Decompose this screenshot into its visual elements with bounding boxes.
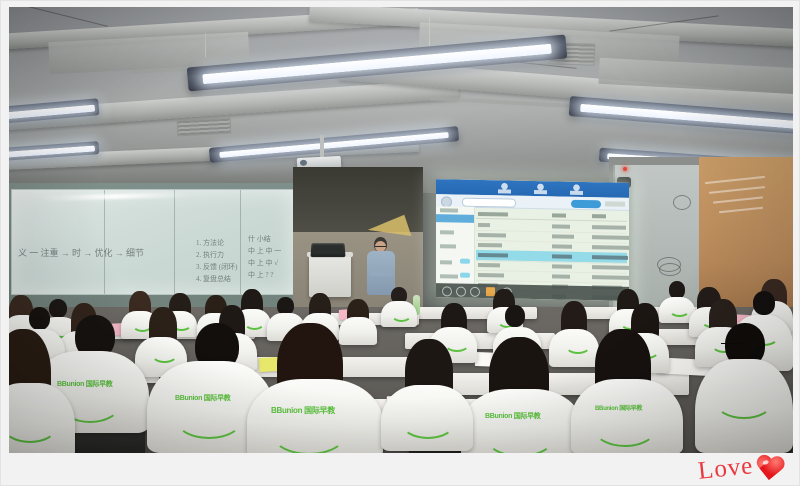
sidebar-item-active[interactable] bbox=[436, 214, 474, 223]
indicator-light bbox=[623, 167, 627, 171]
whiteboard-mark: 中 上 中 一 bbox=[248, 246, 281, 256]
watermark: Love bbox=[698, 455, 785, 483]
whiteboard-line: 1. 方法论 bbox=[196, 238, 224, 248]
heart-icon bbox=[754, 454, 787, 484]
whiteboard-mark: 中 上 ? ? bbox=[248, 270, 273, 280]
sidebar-item[interactable] bbox=[440, 244, 456, 248]
air-vent-icon bbox=[177, 118, 232, 137]
whiteboard: 义 一 注重 → 时 → 优化 → 细节 1. 方法论 2. 执行力 3. 反馈… bbox=[11, 189, 295, 295]
nav-label-orders bbox=[534, 190, 547, 194]
app-sidebar bbox=[436, 206, 475, 284]
nav-label-home bbox=[498, 189, 511, 193]
watermark-text: Love bbox=[696, 452, 754, 486]
sidebar-badge bbox=[460, 273, 470, 278]
sidebar-badge bbox=[460, 259, 470, 264]
taskbar-icon[interactable] bbox=[442, 286, 452, 296]
add-button[interactable] bbox=[571, 200, 601, 209]
circle-decal-icon bbox=[659, 263, 681, 276]
sidebar-item[interactable] bbox=[440, 208, 458, 212]
classroom-photo: 义 一 注重 → 时 → 优化 → 细节 1. 方法论 2. 执行力 3. 反馈… bbox=[9, 7, 793, 453]
photo-frame: 义 一 注重 → 时 → 优化 → 细节 1. 方法论 2. 执行力 3. 反馈… bbox=[0, 0, 800, 486]
secondary-actions[interactable] bbox=[605, 201, 625, 206]
sidebar-item[interactable] bbox=[440, 230, 454, 234]
circle-decal-icon bbox=[673, 195, 691, 210]
podium bbox=[309, 255, 351, 297]
whiteboard-line: 4. 复盘总结 bbox=[196, 274, 231, 284]
sidebar-item[interactable] bbox=[440, 260, 452, 264]
taskbar-icon[interactable] bbox=[456, 287, 466, 297]
projection-screen bbox=[436, 179, 629, 301]
sidebar-item[interactable] bbox=[440, 274, 458, 278]
whiteboard-line: 义 一 注重 → 时 → 优化 → 细节 bbox=[18, 246, 144, 259]
whiteboard-mark: 什 小结 bbox=[248, 234, 271, 244]
whiteboard-mark: 中 上 中 √ bbox=[248, 258, 278, 268]
nav-label-customers bbox=[570, 191, 583, 195]
whiteboard-line: 2. 执行力 bbox=[196, 250, 224, 260]
laptop bbox=[310, 243, 345, 257]
taskbar-icon[interactable] bbox=[470, 287, 480, 297]
lamp-hanger bbox=[205, 33, 206, 57]
whiteboard-line: 3. 反馈 (闭环) bbox=[196, 262, 237, 272]
